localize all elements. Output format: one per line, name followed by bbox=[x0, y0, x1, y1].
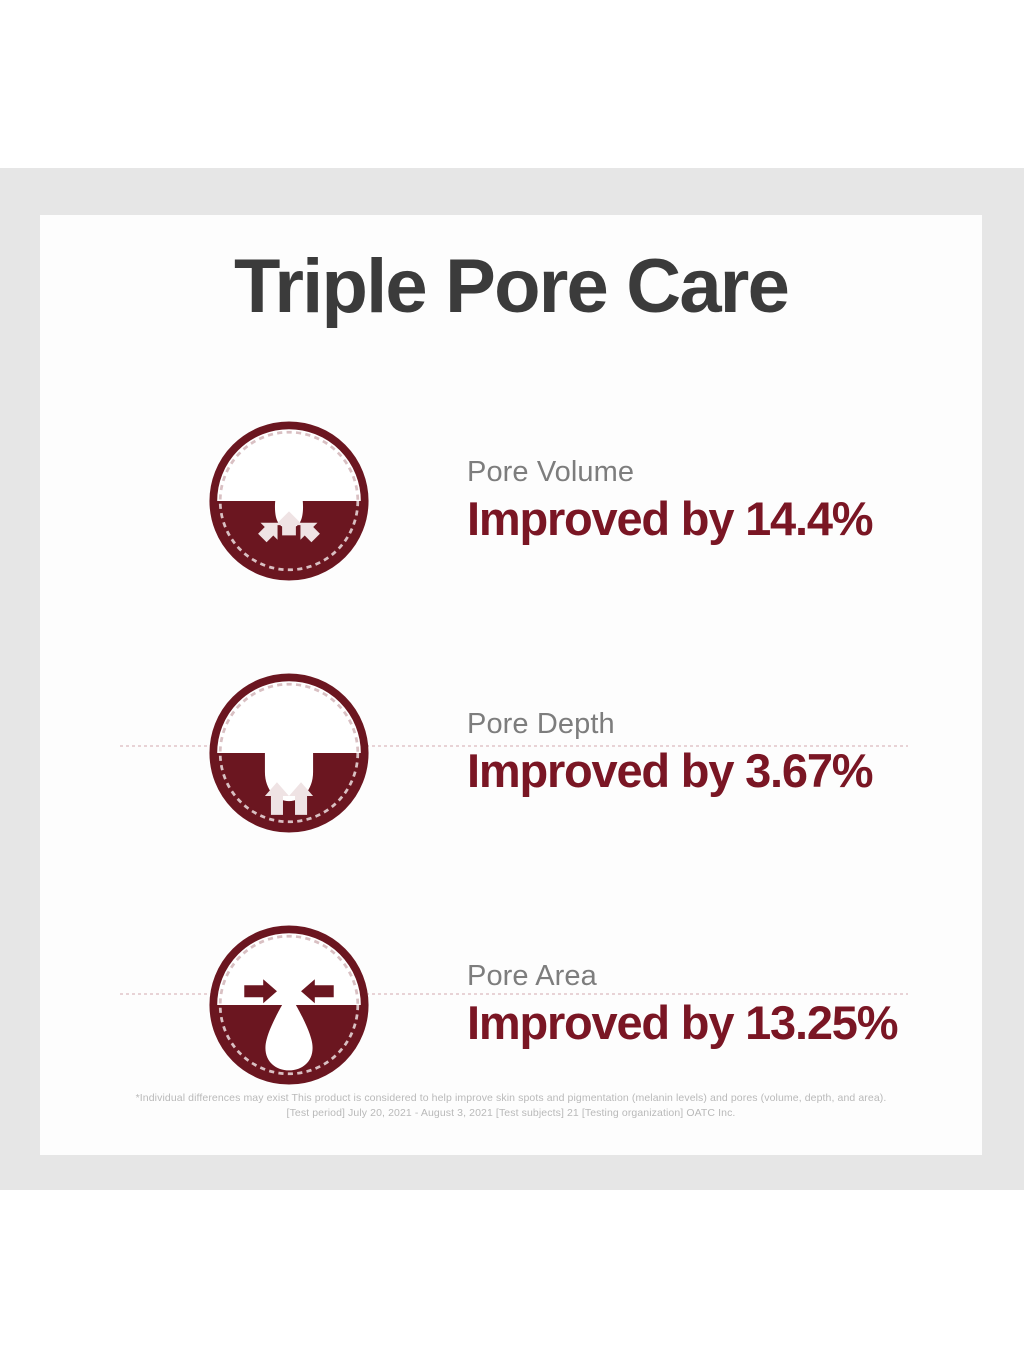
content-card: Triple Pore Care bbox=[40, 215, 982, 1155]
metrics-list: Pore Volume Improved by 14.4% bbox=[40, 375, 982, 1131]
metric-value: Improved by 3.67% bbox=[467, 745, 872, 797]
footnote-line-1: *Individual differences may exist This p… bbox=[100, 1091, 922, 1106]
metric-row: Pore Depth Improved by 3.67% bbox=[40, 627, 982, 879]
metric-label: Pore Depth bbox=[467, 709, 872, 741]
metric-label: Pore Volume bbox=[467, 457, 872, 489]
footnote-line-2: [Test period] July 20, 2021 - August 3, … bbox=[100, 1106, 922, 1121]
metric-value: Improved by 13.25% bbox=[467, 997, 897, 1049]
page-root: Triple Pore Care bbox=[0, 0, 1024, 1365]
footnote: *Individual differences may exist This p… bbox=[40, 1091, 982, 1121]
pore-area-icon bbox=[203, 919, 375, 1091]
pore-volume-icon bbox=[203, 415, 375, 587]
page-title: Triple Pore Care bbox=[40, 249, 982, 325]
pore-depth-icon bbox=[203, 667, 375, 839]
metric-value: Improved by 14.4% bbox=[467, 493, 872, 545]
metric-text: Pore Depth Improved by 3.67% bbox=[467, 709, 872, 797]
metric-label: Pore Area bbox=[467, 961, 897, 993]
metric-text: Pore Area Improved by 13.25% bbox=[467, 961, 897, 1049]
metric-row: Pore Volume Improved by 14.4% bbox=[40, 375, 982, 627]
metric-text: Pore Volume Improved by 14.4% bbox=[467, 457, 872, 545]
